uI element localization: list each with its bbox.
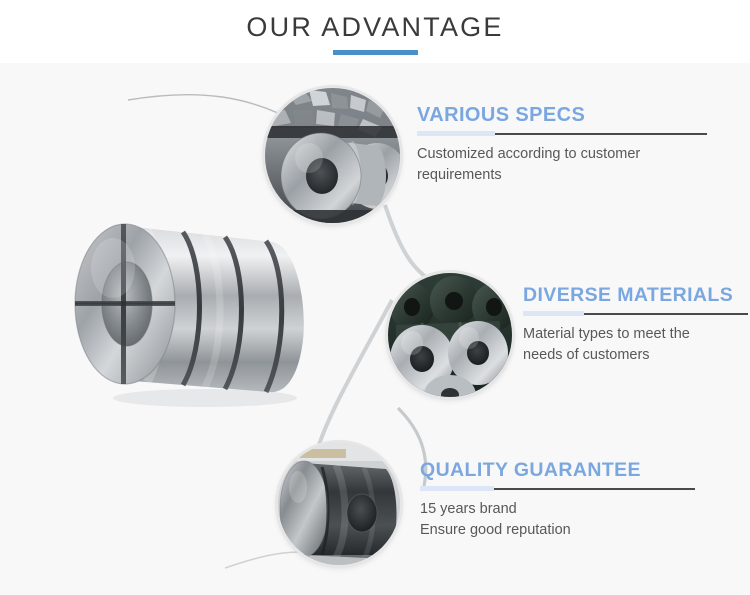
- feature-description-line: requirements: [417, 165, 707, 186]
- feature-description: Customized according to customer require…: [417, 144, 707, 186]
- title-accent-bar: [333, 50, 418, 55]
- feature-heading: QUALITY GUARANTEE: [420, 458, 695, 482]
- divider-blue-segment: [417, 131, 495, 136]
- feature-thumbnail-quality-guarantee[interactable]: [278, 443, 400, 565]
- feature-block-various-specs: VARIOUS SPECS Customized according to cu…: [417, 103, 707, 186]
- feature-divider: [523, 311, 748, 316]
- feature-description-line: 15 years brand: [420, 499, 695, 520]
- feature-thumbnail-various-specs[interactable]: [265, 88, 400, 223]
- feature-description: 15 years brand Ensure good reputation: [420, 499, 695, 541]
- divider-blue-segment: [523, 311, 584, 316]
- feature-block-quality-guarantee: QUALITY GUARANTEE 15 years brand Ensure …: [420, 458, 695, 541]
- feature-description: Material types to meet the needs of cust…: [523, 324, 748, 366]
- divider-blue-segment: [420, 486, 494, 491]
- feature-description-line: needs of customers: [523, 345, 748, 366]
- feature-divider: [417, 131, 707, 136]
- feature-thumbnail-diverse-materials[interactable]: [388, 273, 512, 397]
- feature-heading: VARIOUS SPECS: [417, 103, 707, 127]
- feature-description-line: Customized according to customer: [417, 144, 707, 165]
- feature-description-line: Material types to meet the: [523, 324, 748, 345]
- feature-description-line: Ensure good reputation: [420, 520, 695, 541]
- feature-block-diverse-materials: DIVERSE MATERIALS Material types to meet…: [523, 283, 748, 366]
- feature-divider: [420, 486, 695, 491]
- page-title: OUR ADVANTAGE: [0, 12, 750, 43]
- advantage-infographic: OUR ADVANTAGE: [0, 0, 750, 595]
- hero-coil-image: [55, 208, 325, 408]
- header-bar: OUR ADVANTAGE: [0, 0, 750, 63]
- feature-heading: DIVERSE MATERIALS: [523, 283, 748, 307]
